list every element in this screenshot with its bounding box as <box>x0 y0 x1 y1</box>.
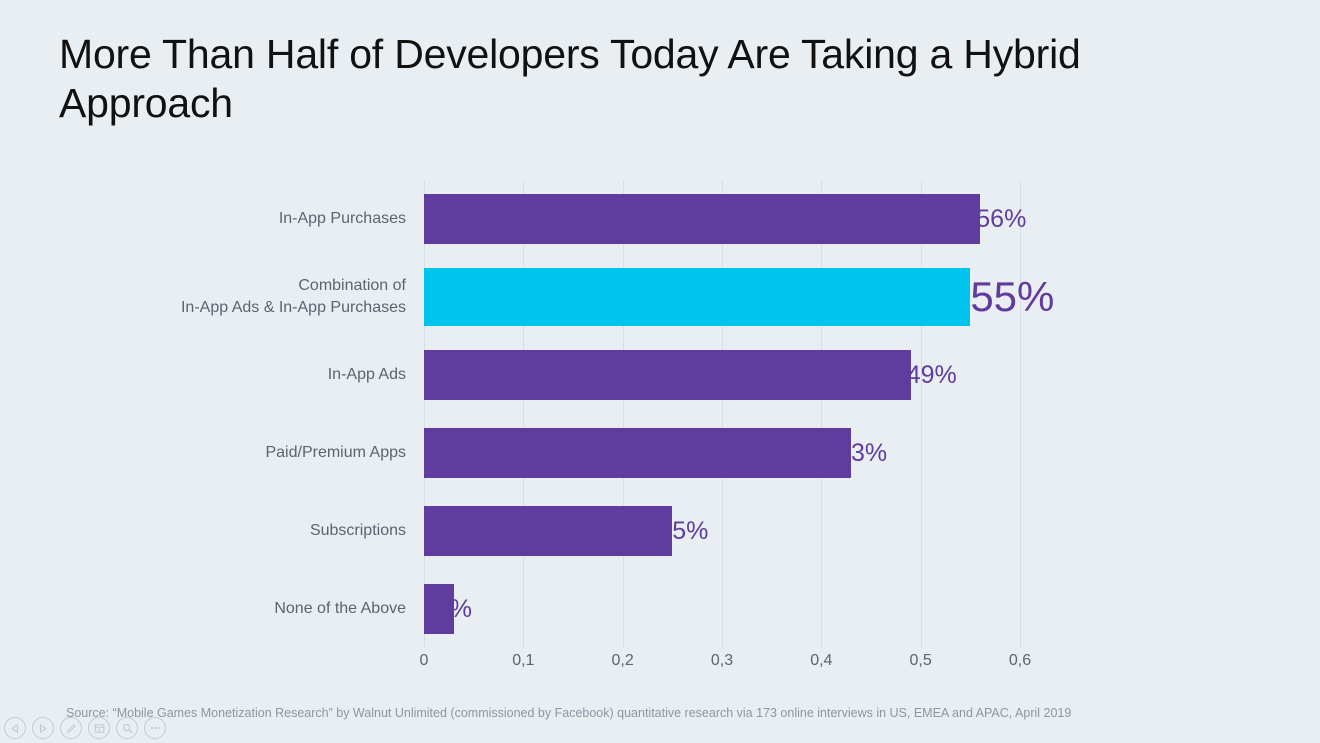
bar-value-label: 43% <box>837 428 887 478</box>
previous-slide-button[interactable] <box>4 717 26 739</box>
bar-row: Subscriptions25% <box>424 492 1020 570</box>
x-axis-tick-label: 0,5 <box>910 652 932 670</box>
x-axis-tick-label: 0,2 <box>612 652 634 670</box>
presentation-controls[interactable] <box>4 717 166 739</box>
magnifier-icon <box>122 723 133 734</box>
category-label: In-App Ads <box>4 336 406 414</box>
bar-value-label: 25% <box>658 506 708 556</box>
category-label: Combination of In-App Ads & In-App Purch… <box>4 258 406 336</box>
x-axis-tick-label: 0,6 <box>1009 652 1031 670</box>
bar-highlighted <box>424 268 970 326</box>
bar-row: None of the Above3% <box>424 570 1020 648</box>
gridline <box>1020 180 1021 648</box>
pen-tool-button[interactable] <box>60 717 82 739</box>
category-label: Paid/Premium Apps <box>4 414 406 492</box>
bar-chart: In-App Purchases56%Combination of In-App… <box>0 0 1320 700</box>
category-label-text: Combination of In-App Ads & In-App Purch… <box>181 275 406 319</box>
category-label-text: Paid/Premium Apps <box>265 442 406 464</box>
bar-value-label: 55% <box>970 266 1054 328</box>
pen-icon <box>66 723 77 734</box>
x-axis-tick-label: 0 <box>420 652 429 670</box>
bar-value-label: 56% <box>976 194 1026 244</box>
zoom-button[interactable] <box>116 717 138 739</box>
category-label: Subscriptions <box>4 492 406 570</box>
bar <box>424 428 851 478</box>
triangle-left-icon <box>11 724 19 733</box>
bar <box>424 506 672 556</box>
x-axis-tick-label: 0,1 <box>512 652 534 670</box>
grid-icon <box>94 723 105 734</box>
plot-area: In-App Purchases56%Combination of In-App… <box>424 180 1020 648</box>
triangle-right-icon <box>39 724 47 733</box>
category-label: In-App Purchases <box>4 180 406 258</box>
category-label-text: In-App Purchases <box>279 208 406 230</box>
category-label-text: In-App Ads <box>328 364 406 386</box>
bar-row: Combination of In-App Ads & In-App Purch… <box>424 258 1020 336</box>
bar <box>424 350 911 400</box>
bar-value-label: 3% <box>436 584 472 634</box>
bar-row: In-App Ads49% <box>424 336 1020 414</box>
category-label: None of the Above <box>4 570 406 648</box>
grid-view-button[interactable] <box>88 717 110 739</box>
bar-value-label: 49% <box>907 350 957 400</box>
source-note: Source: “Mobile Games Monetization Resea… <box>66 706 1071 720</box>
category-label-text: None of the Above <box>274 598 406 620</box>
bar <box>424 194 980 244</box>
next-slide-button[interactable] <box>32 717 54 739</box>
bar-row: Paid/Premium Apps43% <box>424 414 1020 492</box>
more-options-button[interactable] <box>144 717 166 739</box>
x-axis-tick-label: 0,3 <box>711 652 733 670</box>
bar-row: In-App Purchases56% <box>424 180 1020 258</box>
ellipsis-icon <box>149 725 162 731</box>
x-axis-tick-label: 0,4 <box>810 652 832 670</box>
category-label-text: Subscriptions <box>310 520 406 542</box>
